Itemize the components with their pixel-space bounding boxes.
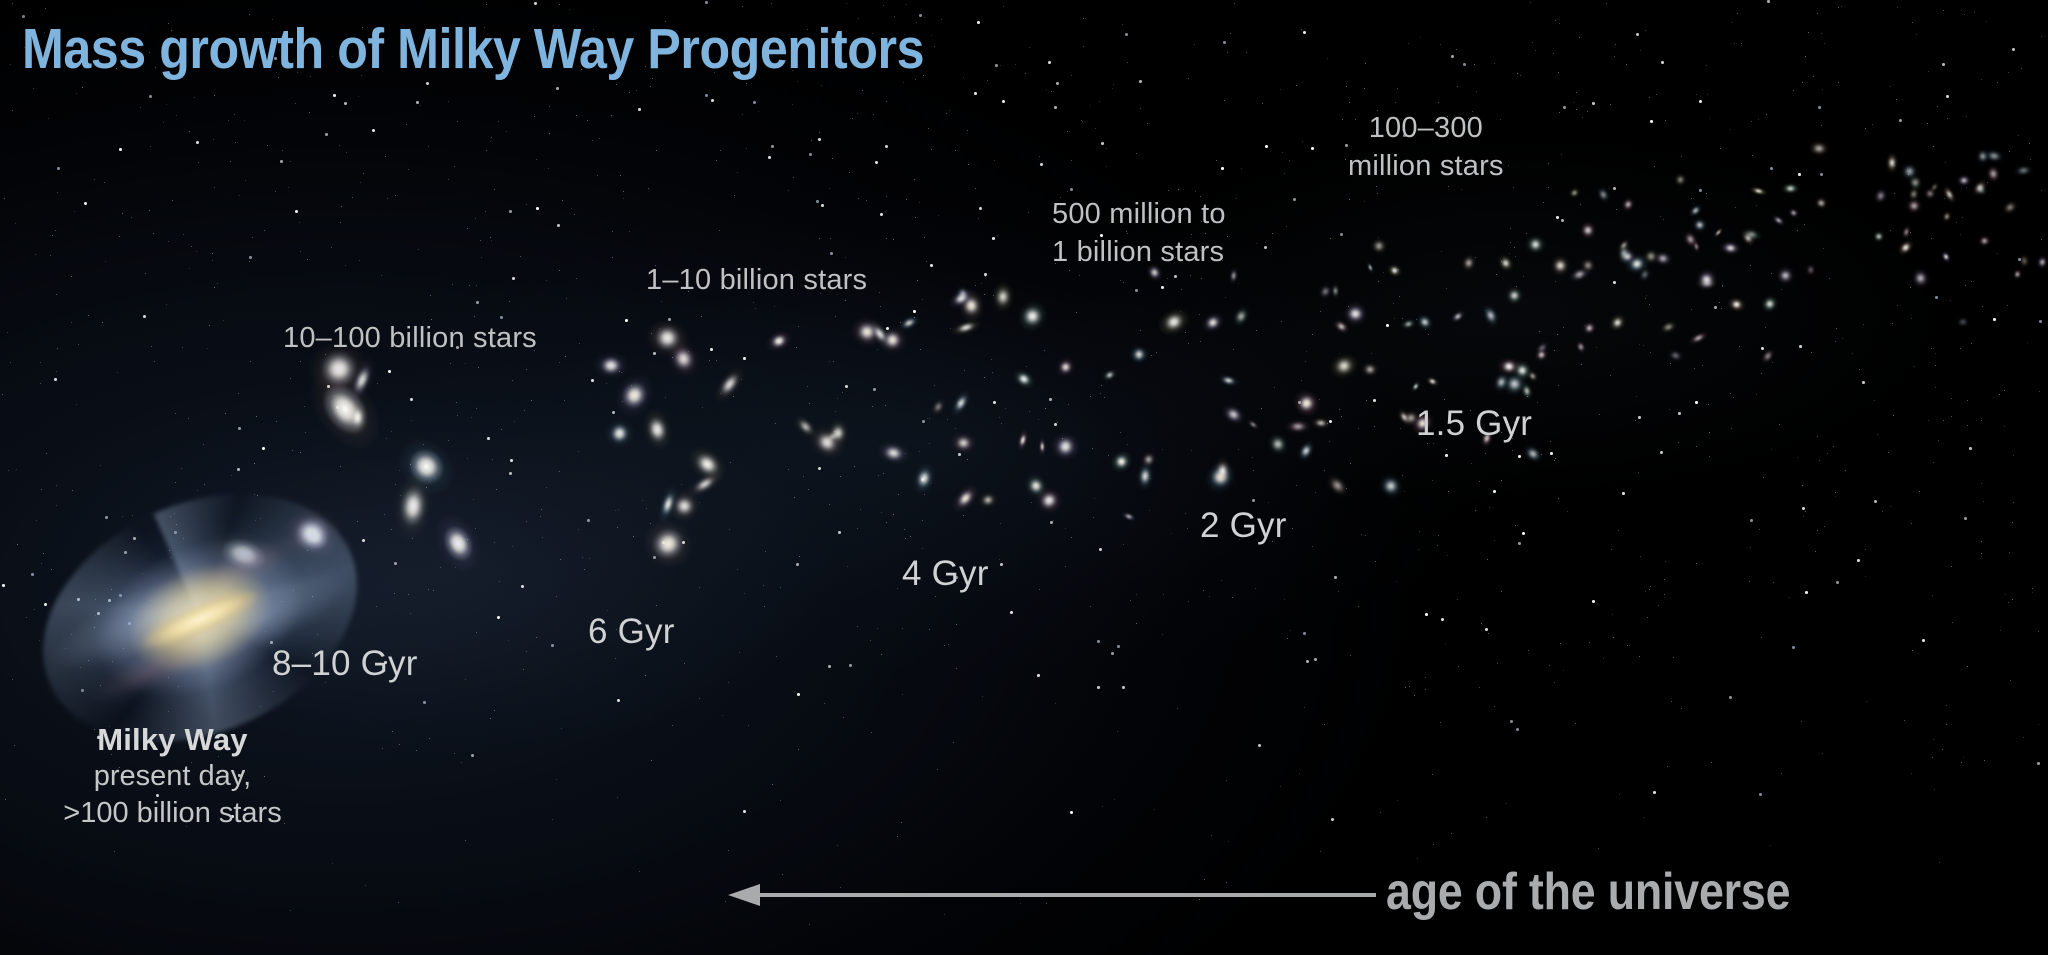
infographic-canvas: Mass growth of Milky Way Progenitors Mil… (0, 0, 2048, 955)
page-title: Mass growth of Milky Way Progenitors (22, 20, 924, 78)
age-of-universe-arrow (728, 884, 1376, 906)
time-marker-4: 2 Gyr (1200, 506, 1287, 546)
annotation-line-1: 1–10 billion stars (646, 262, 867, 300)
annotation-line-2: 1 billion stars (1052, 234, 1226, 272)
star-count-annotation-3: 500 million to1 billion stars (1052, 196, 1226, 271)
annotation-line-1: 100–300 (1348, 110, 1504, 148)
milky-way-subtitle-line1: present day, (0, 758, 345, 795)
annotation-line-1: 500 million to (1052, 196, 1226, 234)
axis-label: age of the universe (1386, 862, 1790, 922)
arrow-shaft (758, 893, 1376, 897)
milky-way-name: Milky Way (0, 722, 345, 758)
milky-way-subtitle-line2: >100 billion stars (0, 795, 345, 832)
time-marker-3: 4 Gyr (902, 554, 989, 594)
time-marker-5: 1.5 Gyr (1416, 404, 1532, 444)
time-marker-1: 8–10 Gyr (272, 644, 418, 684)
milky-way-caption: Milky Way present day, >100 billion star… (0, 722, 345, 832)
annotation-line-2: million stars (1348, 148, 1504, 186)
time-marker-2: 6 Gyr (588, 612, 675, 652)
arrow-head-icon (728, 884, 760, 906)
annotation-line-1: 10–100 billion stars (283, 320, 537, 358)
star-count-annotation-2: 1–10 billion stars (646, 262, 867, 300)
star-count-annotation-1: 10–100 billion stars (283, 320, 537, 358)
star-count-annotation-4: 100–300million stars (1348, 110, 1504, 185)
